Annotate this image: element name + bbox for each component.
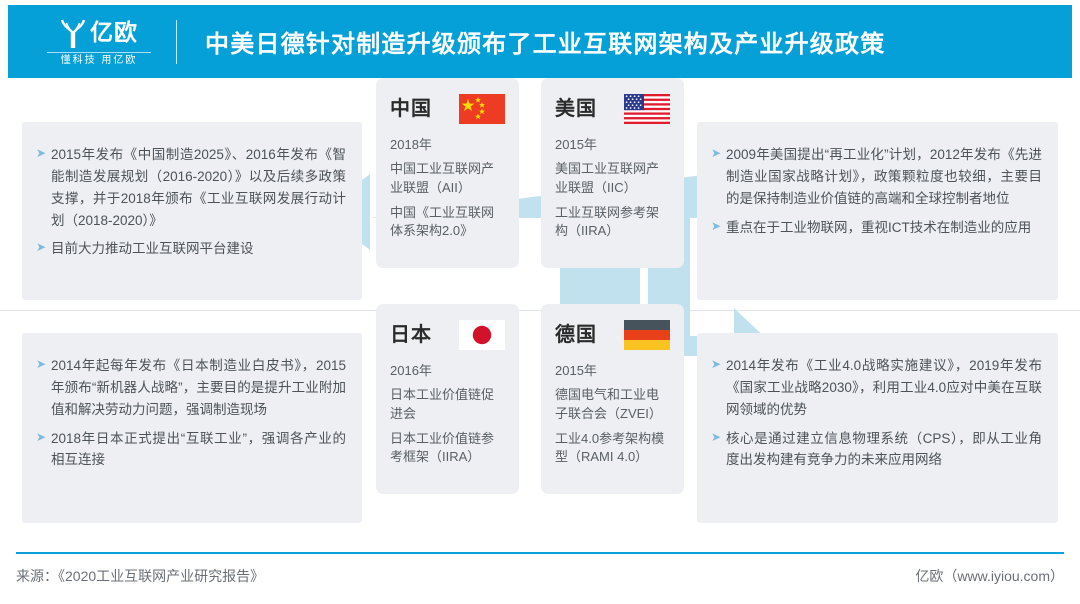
bullet-item: ➤ 2014年起每年发布《日本制造业白皮书》，2015年颁布“新机器人战略”，主… <box>36 355 346 421</box>
flag-china-icon <box>459 94 505 124</box>
card-header: 日本 <box>390 318 505 352</box>
country-card-germany[interactable]: 德国 2015年 德国电气和工业电子联合会（ZVEI） 工业4.0参考架构模型（… <box>541 304 684 494</box>
bullet-text: 2009年美国提出“再工业化”计划，2012年发布《先进制造业国家战略计划》，政… <box>726 147 1042 206</box>
bullet-item: ➤ 2018年日本正式提出“互联工业”，强调各产业的相互连接 <box>36 428 346 472</box>
card-framework: 工业4.0参考架构模型（RAMI 4.0） <box>555 430 670 468</box>
bullet-text: 重点在于工业物联网，重视ICT技术在制造业的应用 <box>726 220 1031 235</box>
bullet-text: 2014年起每年发布《日本制造业白皮书》，2015年颁布“新机器人战略”，主要目… <box>51 358 346 417</box>
bullet-arrow-icon: ➤ <box>711 221 722 232</box>
china-policy-panel: ➤ 2015年发布《中国制造2025》、2016年发布《智能制造发展规划（201… <box>22 122 362 300</box>
flag-germany-icon <box>624 320 670 350</box>
bullet-text: 2014年发布《工业4.0战略实施建议》，2019年发布《国家工业战略2030》… <box>726 358 1042 417</box>
card-year: 2016年 <box>390 362 505 381</box>
card-organization: 美国工业互联网产业联盟（IIC） <box>555 160 670 198</box>
attribution-label[interactable]: 亿欧（www.iyiou.com） <box>915 566 1064 586</box>
card-year: 2018年 <box>390 136 505 155</box>
country-card-usa[interactable]: 美国 <box>541 78 684 268</box>
germany-policy-panel: ➤ 2014年发布《工业4.0战略实施建议》，2019年发布《国家工业战略203… <box>697 333 1058 523</box>
flag-usa-icon <box>624 94 670 124</box>
bullet-item: ➤ 核心是通过建立信息物理系统（CPS），即从工业角度出发构建有竞争力的未来应用… <box>711 428 1042 472</box>
usa-policy-panel: ➤ 2009年美国提出“再工业化”计划，2012年发布《先进制造业国家战略计划》… <box>697 122 1058 300</box>
footer-divider <box>16 552 1064 554</box>
logo-divider <box>47 52 151 53</box>
bullet-arrow-icon: ➤ <box>36 359 47 370</box>
country-name: 德国 <box>555 325 597 345</box>
diagram-stage: ➤ 2015年发布《中国制造2025》、2016年发布《智能制造发展规划（201… <box>0 78 1080 540</box>
bullet-item: ➤ 重点在于工业物联网，重视ICT技术在制造业的应用 <box>711 217 1042 239</box>
bullet-item: ➤ 目前大力推动工业互联网平台建设 <box>36 238 346 260</box>
bullet-text: 2015年发布《中国制造2025》、2016年发布《智能制造发展规划（2016-… <box>51 147 346 228</box>
brand-logo[interactable]: 亿欧 懂科技 用亿欧 <box>40 18 158 66</box>
country-card-china[interactable]: 中国 2018年 中国工业互联网产业联盟（AII） 中国《工业互联网体系架构2.… <box>376 78 519 268</box>
card-header: 德国 <box>555 318 670 352</box>
country-card-japan[interactable]: 日本 2016年 日本工业价值链促进会 日本工业价值链参考框架（IIRA） <box>376 304 519 494</box>
bullet-text: 目前大力推动工业互联网平台建设 <box>51 241 254 256</box>
card-framework: 中国《工业互联网体系架构2.0》 <box>390 204 505 242</box>
japan-policy-panel: ➤ 2014年起每年发布《日本制造业白皮书》，2015年颁布“新机器人战略”，主… <box>22 333 362 523</box>
card-framework: 工业互联网参考架构（IIRA） <box>555 204 670 242</box>
bullet-item: ➤ 2014年发布《工业4.0战略实施建议》，2019年发布《国家工业战略203… <box>711 355 1042 421</box>
logo-wordmark: 亿欧 <box>90 21 138 44</box>
country-name: 日本 <box>390 325 432 345</box>
logo-top-row: 亿欧 <box>60 18 138 48</box>
bullet-arrow-icon: ➤ <box>36 432 47 443</box>
card-organization: 德国电气和工业电子联合会（ZVEI） <box>555 386 670 424</box>
bullet-arrow-icon: ➤ <box>36 242 47 253</box>
card-year: 2015年 <box>555 362 670 381</box>
bullet-text: 2018年日本正式提出“互联工业”，强调各产业的相互连接 <box>51 431 346 468</box>
flag-japan-icon <box>459 320 505 350</box>
source-label: 来源：《2020工业互联网产业研究报告》 <box>16 566 264 586</box>
card-year: 2015年 <box>555 136 670 155</box>
header-vertical-divider <box>176 20 177 64</box>
bullet-item: ➤ 2015年发布《中国制造2025》、2016年发布《智能制造发展规划（201… <box>36 144 346 231</box>
bullet-item: ➤ 2009年美国提出“再工业化”计划，2012年发布《先进制造业国家战略计划》… <box>711 144 1042 210</box>
card-framework: 日本工业价值链参考框架（IIRA） <box>390 430 505 468</box>
bullet-arrow-icon: ➤ <box>711 359 722 370</box>
card-organization: 日本工业价值链促进会 <box>390 386 505 424</box>
logo-tagline: 懂科技 用亿欧 <box>61 56 138 66</box>
page-footer: 来源：《2020工业互联网产业研究报告》 亿欧（www.iyiou.com） <box>16 566 1064 586</box>
bullet-arrow-icon: ➤ <box>711 432 722 443</box>
bullet-arrow-icon: ➤ <box>36 148 47 159</box>
card-header: 中国 <box>390 92 505 126</box>
bullet-text: 核心是通过建立信息物理系统（CPS），即从工业角度出发构建有竞争力的未来应用网络 <box>726 431 1042 468</box>
country-name: 中国 <box>390 99 432 119</box>
page-title: 中美日德针对制造升级颁布了工业互联网架构及产业升级政策 <box>205 24 885 59</box>
card-header: 美国 <box>555 92 670 126</box>
page-header: 亿欧 懂科技 用亿欧 中美日德针对制造升级颁布了工业互联网架构及产业升级政策 <box>8 5 1072 78</box>
card-organization: 中国工业互联网产业联盟（AII） <box>390 160 505 198</box>
bullet-arrow-icon: ➤ <box>711 148 722 159</box>
country-name: 美国 <box>555 99 597 119</box>
yiou-logo-icon <box>60 18 86 48</box>
